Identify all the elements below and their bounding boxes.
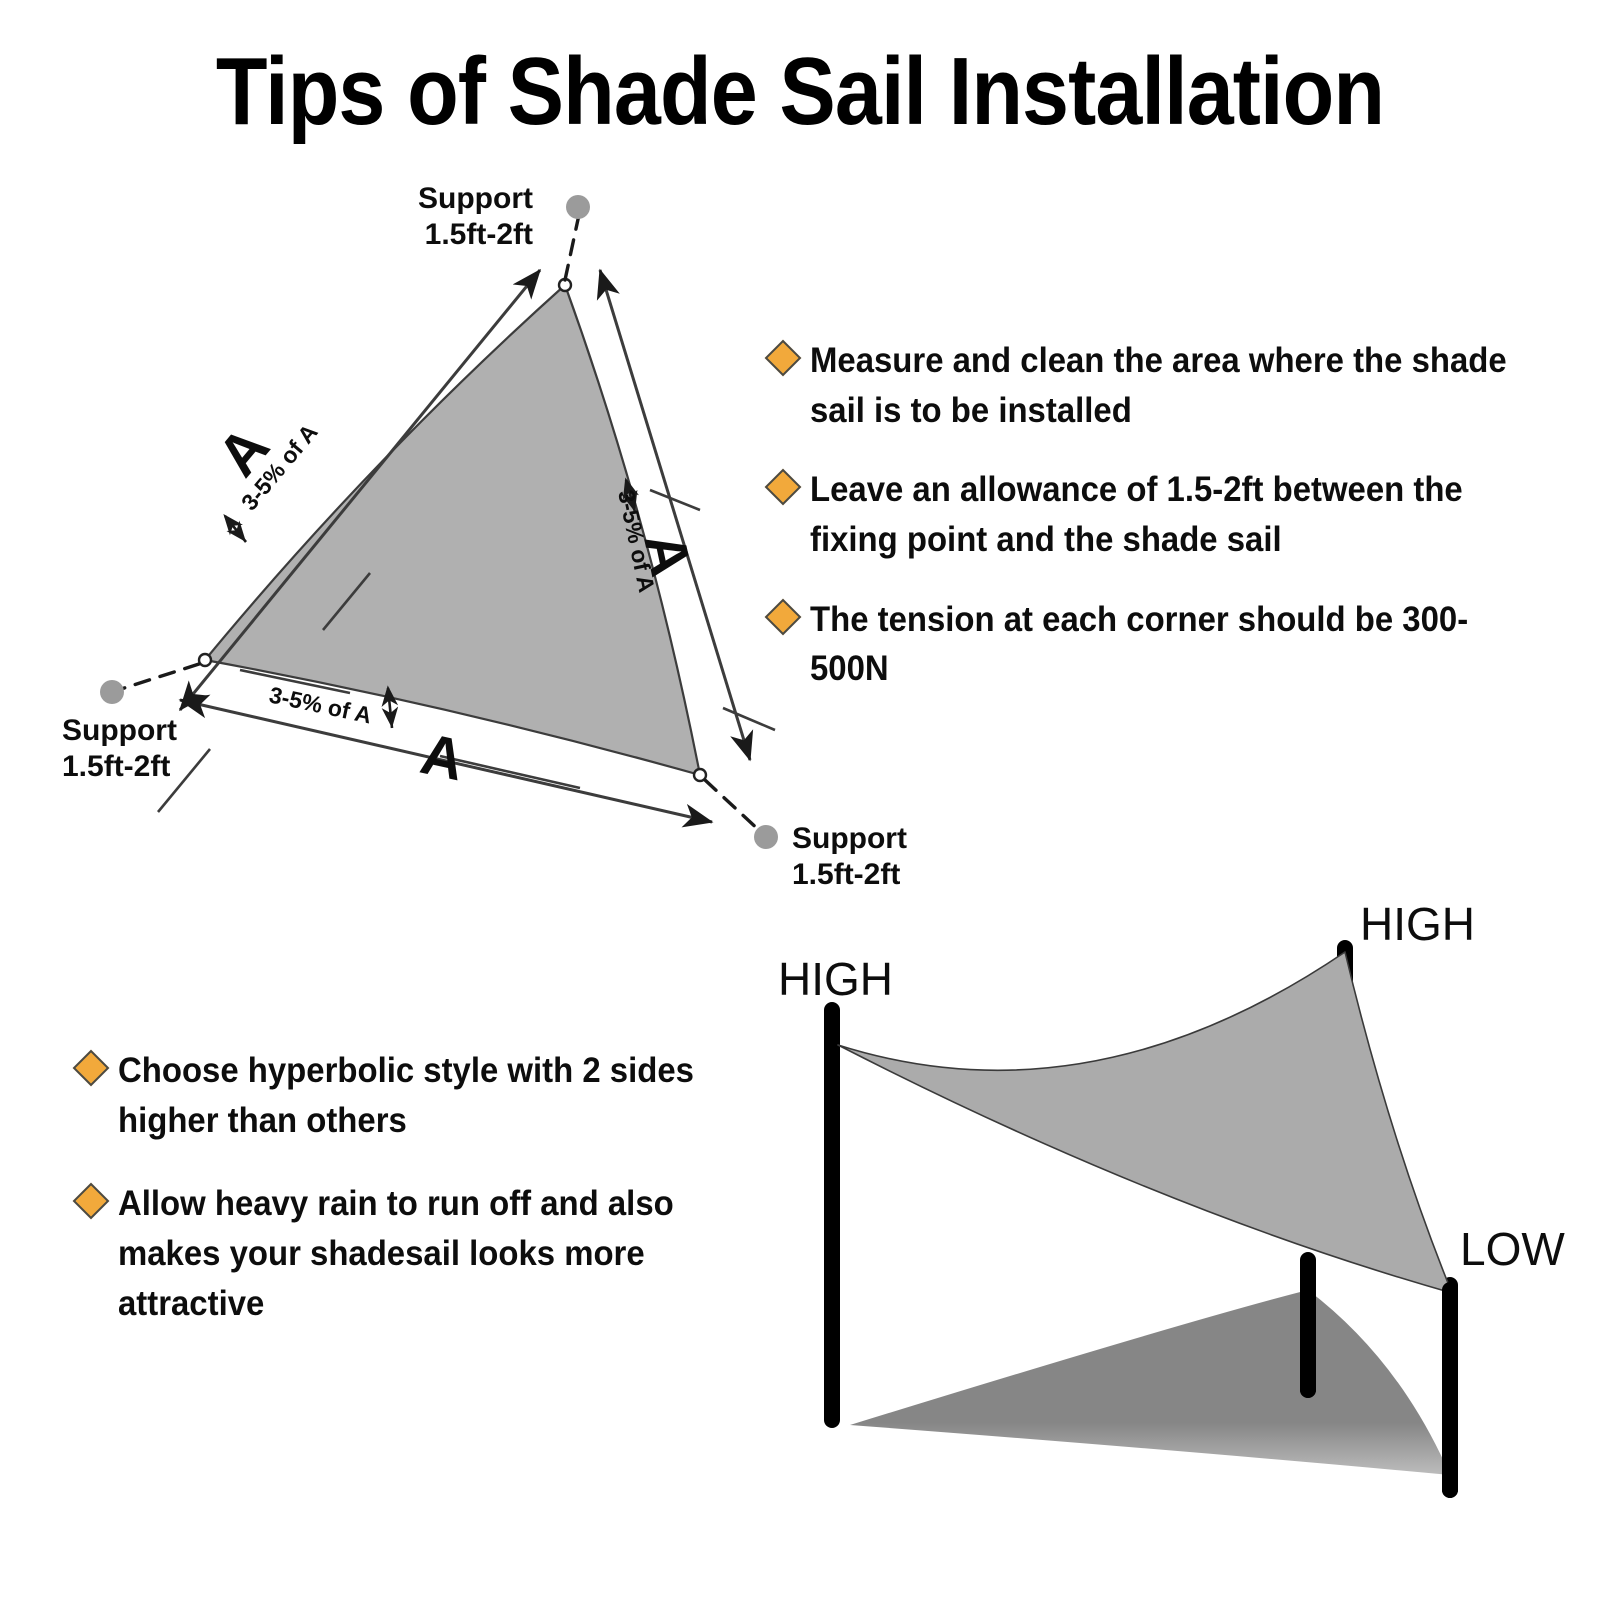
diamond-bullet-icon [73,1050,110,1087]
support-label-bottom-right: Support 1.5ft-2ft [792,822,907,891]
list-item-label: Allow heavy rain to run off and also mak… [118,1179,738,1328]
support-label-br-line1: Support [792,822,907,855]
support-label-top-line1: Support [418,182,533,215]
list-item: Allow heavy rain to run off and also mak… [78,1179,778,1328]
diamond-bullet-icon [73,1183,110,1220]
page-root: Tips of Shade Sail Installation [0,0,1600,1600]
label-high-left: HIGH [778,953,893,1005]
support-label-bl-line2: 1.5ft-2ft [62,750,170,783]
support-label-top: Support 1.5ft-2ft [418,182,533,251]
label-low-right: LOW [1460,1223,1565,1275]
list-item: Leave an allowance of 1.5-2ft between th… [770,465,1560,564]
support-label-br-line2: 1.5ft-2ft [792,858,900,891]
label-high-right: HIGH [1360,898,1475,950]
page-title: Tips of Shade Sail Installation [96,44,1504,140]
list-item-label: The tension at each corner should be 300… [810,595,1515,694]
list-item: Choose hyperbolic style with 2 sides hig… [78,1046,778,1145]
support-label-top-line2: 1.5ft-2ft [425,218,533,251]
diamond-bullet-icon [765,340,802,377]
sail-ground-shadow [850,1290,1450,1475]
list-item-label: Leave an allowance of 1.5-2ft between th… [810,465,1515,564]
list-item-label: Choose hyperbolic style with 2 sides hig… [118,1046,738,1145]
support-label-bl-line1: Support [62,714,177,747]
list-item-label: Measure and clean the area where the sha… [810,336,1515,435]
dimension-label-bottom-A: A [415,721,469,793]
list-item: Measure and clean the area where the sha… [770,336,1560,435]
diamond-bullet-icon [765,598,802,635]
support-label-bottom-left: Support 1.5ft-2ft [62,714,177,783]
tips-list-left: Choose hyperbolic style with 2 sides hig… [78,1046,778,1362]
hyperbolic-sail-shape [838,952,1452,1293]
hyperbolic-shade-sail-diagram: HIGH HIGH LOW [760,890,1600,1530]
list-item: The tension at each corner should be 300… [770,595,1560,694]
tips-list-right: Measure and clean the area where the sha… [770,336,1560,724]
diamond-bullet-icon [765,469,802,506]
